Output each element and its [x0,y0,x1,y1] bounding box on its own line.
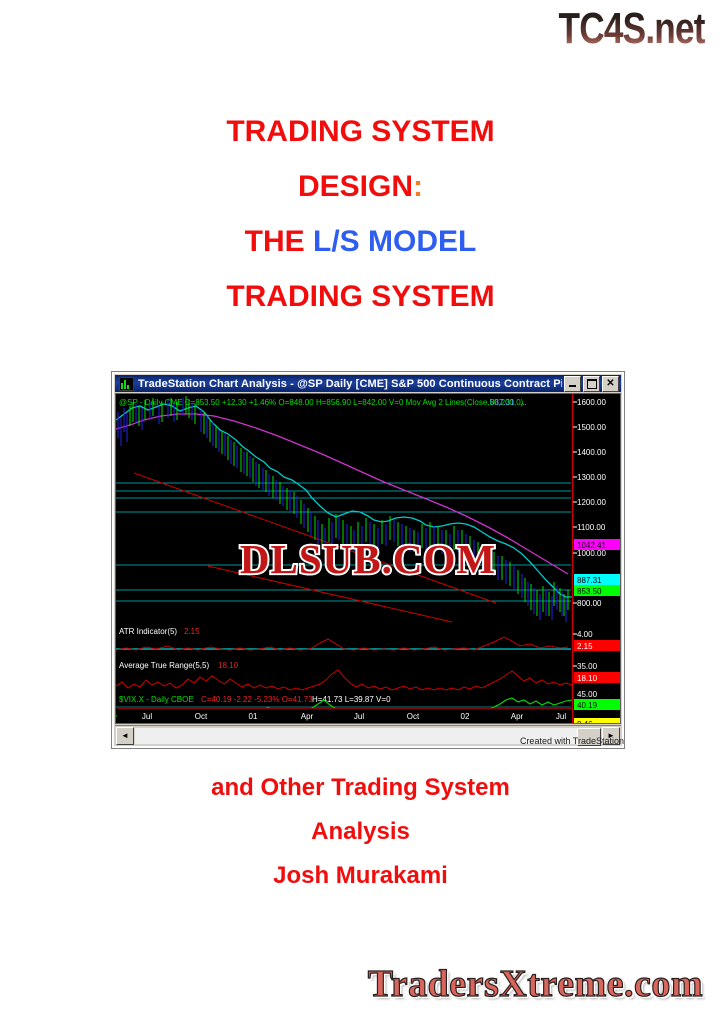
svg-text:887.31: 887.31 [490,398,515,407]
svg-text:Average True Range(5,5): Average True Range(5,5) [119,661,209,670]
title-line-2-text: DESIGN [298,170,413,203]
svg-text:9.46: 9.46 [577,720,593,724]
svg-text:Jul: Jul [142,712,152,721]
svg-text:Oct: Oct [407,712,420,721]
svg-text:4.00: 4.00 [577,630,593,639]
svg-text:35.00: 35.00 [577,662,598,671]
title-line-3-blue: L/S MODEL [313,225,476,258]
svg-text:1400.00: 1400.00 [577,448,606,457]
subtitle-line-1: and Other Trading System [0,766,721,810]
right-indicator-axis: 4.00 2.15 35.00 18.10 45.00 40.19 9.46 [573,626,621,724]
svg-text:1500.00: 1500.00 [577,423,606,432]
chart-icon [119,377,134,391]
title-line-4: TRADING SYSTEM [0,269,721,324]
svg-text:$VIX.X - Daily CBOE: $VIX.X - Daily CBOE [119,695,194,704]
minimize-button[interactable] [564,376,581,392]
svg-text:800.00: 800.00 [577,599,602,608]
maximize-button[interactable] [583,376,600,392]
svg-text:C=40.19 -2.22 -5.23% O=41.73: C=40.19 -2.22 -5.23% O=41.73 [201,695,313,704]
site-brand-top: TC4S.net [559,4,705,54]
svg-text:ATR Indicator(5): ATR Indicator(5) [119,627,177,636]
svg-text:1300.00: 1300.00 [577,473,606,482]
svg-text:1600.00: 1600.00 [577,398,606,407]
close-button[interactable]: ✕ [602,376,619,392]
title-line-2-colon: : [413,170,423,203]
window-titlebar[interactable]: TradeStation Chart Analysis - @SP Daily … [115,375,621,392]
svg-text:1000.00: 1000.00 [577,549,606,558]
title-line-3: THE L/S MODEL [0,214,721,269]
date-axis: Jul Oct 01 Apr Jul Oct 02 Apr Jul [117,709,572,722]
title-line-2: DESIGN: [0,159,721,214]
author-name: Josh Murakami [0,854,721,898]
site-brand-bottom: TradersXtreme.com [368,962,703,1006]
svg-text:02: 02 [461,712,470,721]
svg-text:18.10: 18.10 [577,674,598,683]
subtitle-block: and Other Trading System Analysis Josh M… [0,766,721,898]
svg-text:1200.00: 1200.00 [577,498,606,507]
svg-text:Apr: Apr [301,712,314,721]
svg-text:45.00: 45.00 [577,690,598,699]
created-with-note: Created with TradeStation [112,736,626,746]
subtitle-line-2: Analysis [0,810,721,854]
page-title: TRADING SYSTEM DESIGN: THE L/S MODEL TRA… [0,104,721,324]
svg-text:18.10: 18.10 [218,661,239,670]
chart-canvas[interactable]: @SP - Daily CME C=853.50 +12.30 +1.46% O… [115,393,621,724]
title-line-3-red: THE [245,225,313,258]
window-title: TradeStation Chart Analysis - @SP Daily … [138,378,562,390]
svg-text:@SP - Daily CME C=853.50 +1: @SP - Daily CME C=853.50 +12.30 +1.46% O… [119,398,524,407]
svg-text:2.15: 2.15 [577,642,593,651]
svg-text:Jul: Jul [354,712,364,721]
svg-text:01: 01 [249,712,258,721]
title-line-1: TRADING SYSTEM [0,104,721,159]
svg-text:...: ... [520,398,527,407]
svg-text:1100.00: 1100.00 [577,523,606,532]
svg-text:Apr: Apr [511,712,524,721]
svg-text:Oct: Oct [195,712,208,721]
chart-plot: @SP - Daily CME C=853.50 +12.30 +1.46% O… [116,394,621,724]
svg-text:2.15: 2.15 [184,627,200,636]
svg-text:853.50: 853.50 [577,587,602,596]
svg-text:887.31: 887.31 [577,576,602,585]
svg-text:Jul: Jul [556,712,566,721]
svg-text:40.19: 40.19 [577,701,598,710]
svg-text:1042.41: 1042.41 [577,541,606,550]
tradestation-chart-window[interactable]: TradeStation Chart Analysis - @SP Daily … [112,372,624,748]
